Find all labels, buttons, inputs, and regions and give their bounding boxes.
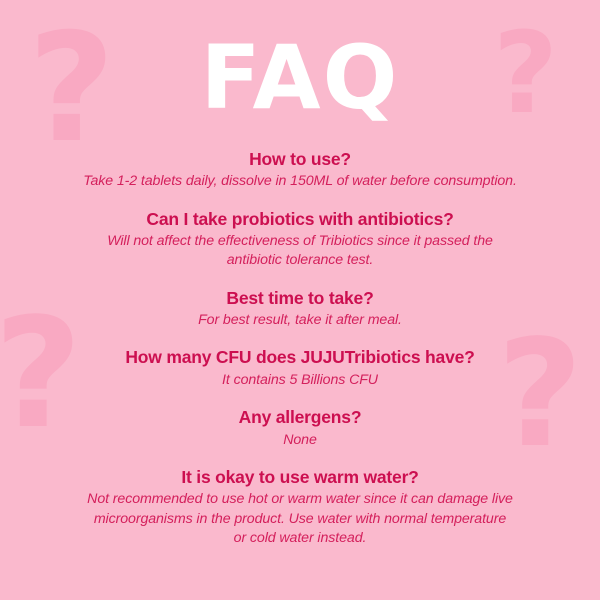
- faq-answer: For best result, take it after meal.: [22, 311, 578, 330]
- faq-item: Any allergens? None: [22, 406, 578, 450]
- faq-question: Any allergens?: [22, 406, 578, 428]
- faq-item: How to use? Take 1-2 tablets daily, diss…: [22, 148, 578, 192]
- faq-poster: ? ? ? ? FAQ How to use? Take 1-2 tablets…: [0, 0, 600, 600]
- faq-answer: Take 1-2 tablets daily, dissolve in 150M…: [22, 172, 578, 191]
- faq-question: Can I take probiotics with antibiotics?: [22, 208, 578, 230]
- page-title: FAQ: [0, 34, 600, 122]
- faq-answer: Not recommended to use hot or warm water…: [22, 490, 578, 548]
- faq-question: How to use?: [22, 148, 578, 170]
- faq-answer: None: [22, 431, 578, 450]
- faq-item: Can I take probiotics with antibiotics? …: [22, 208, 578, 271]
- faq-answer: It contains 5 Billions CFU: [22, 371, 578, 390]
- faq-question: Best time to take?: [22, 287, 578, 309]
- faq-list: How to use? Take 1-2 tablets daily, diss…: [0, 148, 600, 548]
- faq-question: It is okay to use warm water?: [22, 466, 578, 488]
- faq-item: How many CFU does JUJUTribiotics have? I…: [22, 346, 578, 390]
- faq-item: It is okay to use warm water? Not recomm…: [22, 466, 578, 548]
- faq-item: Best time to take? For best result, take…: [22, 287, 578, 331]
- faq-answer: Will not affect the effectiveness of Tri…: [22, 232, 578, 271]
- faq-question: How many CFU does JUJUTribiotics have?: [22, 346, 578, 368]
